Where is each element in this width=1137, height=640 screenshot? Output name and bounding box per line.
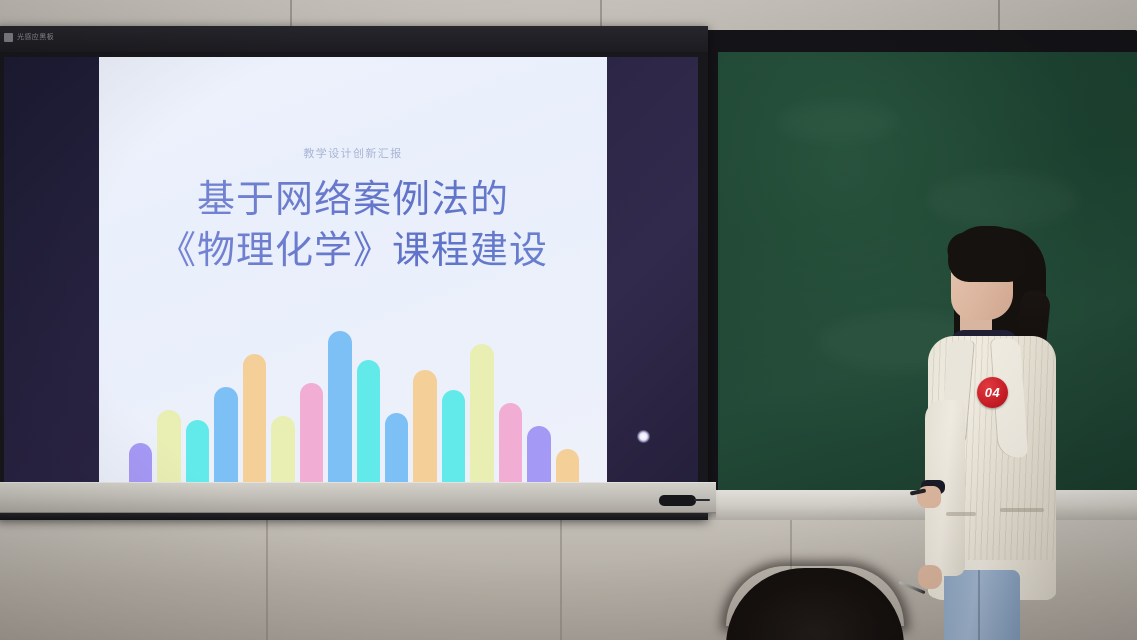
chart-bar <box>328 331 351 489</box>
chalk-smudge <box>778 102 898 142</box>
chart-bar <box>243 354 266 489</box>
whiteboard-top-bezel: 光感应黑板 <box>0 26 708 52</box>
presenter-hand-lower <box>918 565 942 589</box>
ledge-shadow <box>0 512 716 519</box>
chart-bar <box>157 410 180 489</box>
slide-subtitle: 教学设计创新汇报 <box>99 145 607 161</box>
brand-logo-label: 光感应黑板 <box>17 32 54 42</box>
chart-bar <box>385 413 408 489</box>
slide-title: 基于网络案例法的 《物理化学》课程建设 <box>99 175 607 277</box>
chart-bar <box>442 390 465 489</box>
chart-bar <box>470 344 493 489</box>
remote-antenna-icon <box>694 499 710 501</box>
chart-bar <box>186 420 209 489</box>
chart-bar <box>499 403 522 489</box>
chart-bar <box>413 370 436 489</box>
presenter-jacket-pocket <box>1000 508 1044 512</box>
whiteboard-ledge <box>0 482 716 513</box>
slide-title-line-1: 基于网络案例法的 <box>99 175 607 226</box>
whiteboard-screen[interactable]: 教学设计创新汇报 基于网络案例法的 《物理化学》课程建设 <box>4 57 698 489</box>
decorative-bar-chart <box>129 324 579 489</box>
classroom-scene: 光感应黑板 教学设计创新汇报 基于网络案例法的 《物理化学》课程建设 智能黑板 <box>0 0 1137 640</box>
chalk-smudge <box>928 172 1078 227</box>
presenter-badge-number: 04 <box>985 385 1000 400</box>
presentation-slide[interactable]: 教学设计创新汇报 基于网络案例法的 《物理化学》课程建设 <box>99 57 607 489</box>
chart-bar <box>357 360 380 489</box>
whiteboard-brand: 光感应黑板 <box>4 32 54 42</box>
chalkboard <box>706 30 1137 520</box>
chart-bar <box>271 416 294 489</box>
chart-bar <box>214 387 237 489</box>
presenter-jeans <box>944 570 1020 640</box>
interactive-whiteboard[interactable]: 光感应黑板 教学设计创新汇报 基于网络案例法的 《物理化学》课程建设 智能黑板 <box>0 26 708 520</box>
brand-logo-icon <box>4 33 13 42</box>
presenter-jeans-seam <box>978 570 980 640</box>
presenter-number-badge: 04 <box>977 377 1008 408</box>
screen-light-reflection <box>637 430 650 443</box>
wall-lower-seam <box>560 520 562 640</box>
remote-control[interactable] <box>659 495 696 506</box>
chart-bar <box>527 426 550 489</box>
slide-title-line-2: 《物理化学》课程建设 <box>99 226 607 277</box>
wall-lower-seam <box>266 520 268 640</box>
chart-bar <box>300 383 323 489</box>
presenter-jacket-pocket <box>946 512 976 516</box>
